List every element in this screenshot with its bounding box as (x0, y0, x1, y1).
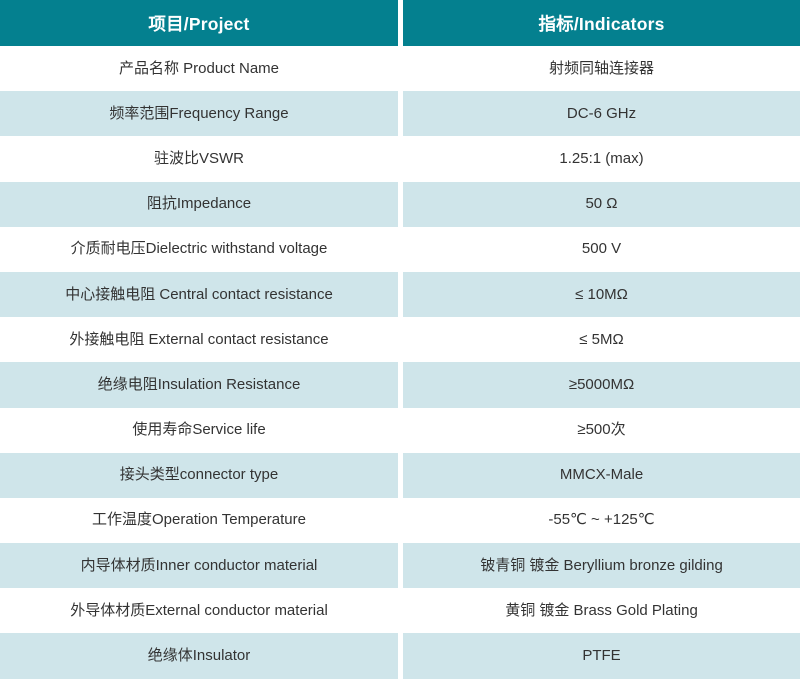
cell-project: 介质耐电压Dielectric withstand voltage (0, 227, 398, 272)
cell-indicator: ≤ 5MΩ (403, 317, 800, 362)
table-row: 频率范围Frequency Range DC-6 GHz (0, 91, 800, 136)
cell-project: 接头类型connector type (0, 453, 398, 498)
table-row: 使用寿命Service life ≥500次 (0, 408, 800, 453)
table-row: 阻抗Impedance 50 Ω (0, 182, 800, 227)
table-row: 外导体材质External conductor material 黄铜 镀金 B… (0, 588, 800, 633)
cell-indicator: PTFE (403, 633, 800, 678)
table-row: 接头类型connector type MMCX-Male (0, 453, 800, 498)
cell-project: 外导体材质External conductor material (0, 588, 398, 633)
cell-project: 产品名称 Product Name (0, 46, 398, 91)
cell-project: 绝缘电阻Insulation Resistance (0, 362, 398, 407)
cell-indicator: 铍青铜 镀金 Beryllium bronze gilding (403, 543, 800, 588)
column-header-indicators: 指标/Indicators (403, 0, 800, 46)
table-row: 中心接触电阻 Central contact resistance ≤ 10MΩ (0, 272, 800, 317)
cell-project: 绝缘体Insulator (0, 633, 398, 678)
table-row: 外接触电阻 External contact resistance ≤ 5MΩ (0, 317, 800, 362)
cell-indicator: 500 V (403, 227, 800, 272)
table-row: 工作温度Operation Temperature -55℃ ~ +125℃ (0, 498, 800, 543)
cell-indicator: ≥500次 (403, 408, 800, 453)
cell-project: 驻波比VSWR (0, 136, 398, 181)
column-header-project: 项目/Project (0, 0, 398, 46)
cell-project: 使用寿命Service life (0, 408, 398, 453)
cell-indicator: 黄铜 镀金 Brass Gold Plating (403, 588, 800, 633)
specification-table: 项目/Project 指标/Indicators 产品名称 Product Na… (0, 0, 800, 679)
cell-project: 内导体材质Inner conductor material (0, 543, 398, 588)
cell-project: 阻抗Impedance (0, 182, 398, 227)
cell-project: 工作温度Operation Temperature (0, 498, 398, 543)
cell-indicator: ≥5000MΩ (403, 362, 800, 407)
cell-indicator: DC-6 GHz (403, 91, 800, 136)
table-row: 产品名称 Product Name 射频同轴连接器 (0, 46, 800, 91)
cell-project: 中心接触电阻 Central contact resistance (0, 272, 398, 317)
table-header-row: 项目/Project 指标/Indicators (0, 0, 800, 46)
table-row: 绝缘体Insulator PTFE (0, 633, 800, 678)
table-row: 内导体材质Inner conductor material 铍青铜 镀金 Ber… (0, 543, 800, 588)
table-row: 驻波比VSWR 1.25:1 (max) (0, 136, 800, 181)
table-row: 绝缘电阻Insulation Resistance ≥5000MΩ (0, 362, 800, 407)
cell-indicator: 1.25:1 (max) (403, 136, 800, 181)
cell-indicator: MMCX-Male (403, 453, 800, 498)
cell-project: 频率范围Frequency Range (0, 91, 398, 136)
cell-project: 外接触电阻 External contact resistance (0, 317, 398, 362)
table-row: 介质耐电压Dielectric withstand voltage 500 V (0, 227, 800, 272)
cell-indicator: 50 Ω (403, 182, 800, 227)
cell-indicator: -55℃ ~ +125℃ (403, 498, 800, 543)
cell-indicator: 射频同轴连接器 (403, 46, 800, 91)
cell-indicator: ≤ 10MΩ (403, 272, 800, 317)
